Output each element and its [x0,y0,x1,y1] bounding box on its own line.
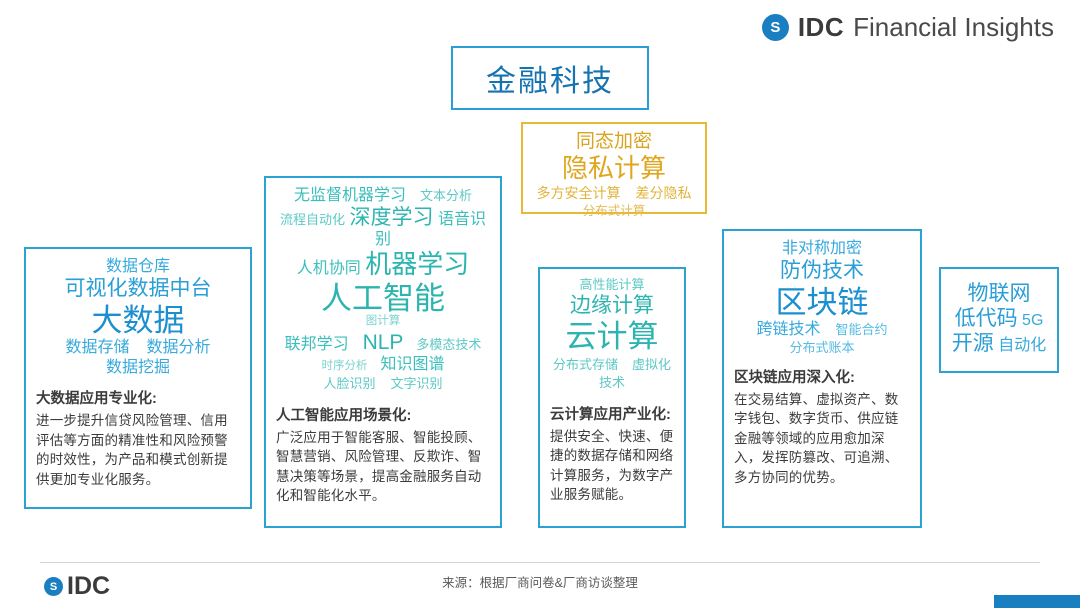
wordcloud-term: 数据分析 [146,339,210,356]
wordcloud-row: 数据存储 数据分析 [36,339,240,357]
card-cloud-heading: 云计算应用产业化: [550,403,674,424]
wordcloud-term: 人机协同 [297,260,361,277]
slide-canvas: S IDC Financial Insights 金融科技 数据仓库 可视化数据… [0,0,1080,608]
wordcloud-term: 边缘计算 [550,294,674,318]
card-bigdata: 数据仓库 可视化数据中台 大数据 数据存储 数据分析 数据挖掘 大数据应用专业化… [24,247,252,509]
wordcloud-row: 低代码 5G [952,307,1046,331]
wordcloud-row: 跨链技术 智能合约 [734,321,910,339]
wordcloud-term: 同态加密 [531,131,697,153]
wordcloud-term: 图计算 [366,315,401,327]
wordcloud-row: 流程自动化 深度学习 语音识别 [276,206,490,249]
brand-name: IDC [798,12,844,43]
footer-divider [40,562,1040,563]
wordcloud-term: 分布式存储 [553,357,618,372]
wordcloud-term: 低代码 [955,307,1018,330]
footer-accent-block [994,595,1080,608]
wordcloud-row: 无监督机器学习 文本分析 [276,187,490,205]
card-bigdata-heading: 大数据应用专业化: [36,387,240,408]
wordcloud-term: 智能合约 [835,322,887,337]
card-cloud-text: 提供安全、快速、便捷的数据存储和网络计算服务，为数字产业服务赋能。 [550,427,674,505]
card-blockchain-text: 在交易结算、虚拟资产、数字钱包、数字货币、供应链金融等领域的应用愈加深入，发挥防… [734,390,910,488]
card-blockchain: 非对称加密 防伪技术 区块链 跨链技术 智能合约 分布式账本 区块链应用深入化:… [722,229,922,528]
wordcloud-blockchain: 非对称加密 防伪技术 区块链 跨链技术 智能合约 分布式账本 [734,240,910,356]
wordcloud-term: 深度学习 [350,206,434,229]
wordcloud-row: 人机协同 机器学习 [276,250,490,280]
wordcloud-term: 数据存储 [66,339,130,356]
wordcloud-term: 人脸识别 [324,376,376,391]
page-title: 金融科技 [451,46,649,110]
wordcloud-row: 人脸识别 文字识别 [276,375,490,393]
wordcloud-term: 知识图谱 [380,356,444,373]
wordcloud-term: 物联网 [952,282,1046,306]
wordcloud-term: 隐私计算 [531,154,697,184]
wordcloud-ai: 无监督机器学习 文本分析 流程自动化 深度学习 语音识别 人机协同 机器学习 人… [276,187,490,394]
wordcloud-term: 高性能计算 [550,278,674,293]
card-iot: 物联网 低代码 5G 开源 自动化 [939,267,1059,373]
brand-subtitle: Financial Insights [853,12,1054,43]
wordcloud-term: 跨链技术 [757,321,821,338]
wordcloud-term: 多方安全计算 [537,185,621,201]
wordcloud-term: 时序分析 [322,360,368,372]
card-ai-heading: 人工智能应用场景化: [276,404,490,425]
wordcloud-term: NLP [363,331,404,354]
wordcloud-term: 非对称加密 [734,240,910,258]
wordcloud-term: 区块链 [734,285,910,321]
card-ai: 无监督机器学习 文本分析 流程自动化 深度学习 语音识别 人机协同 机器学习 人… [264,176,502,528]
wordcloud-row: 多方安全计算 差分隐私 [531,185,697,203]
wordcloud-row: 开源 自动化 [952,332,1046,356]
wordcloud-row: 图计算 [276,311,490,329]
wordcloud-cloud-computing: 高性能计算 边缘计算 云计算 分布式存储 虚拟化技术 [550,278,674,393]
idc-brand-header: S IDC Financial Insights [762,12,1054,43]
wordcloud-term: 联邦学习 [285,336,349,353]
wordcloud-term: 防伪技术 [734,259,910,283]
card-ai-text: 广泛应用于智能客服、智能投顾、智慧营销、风险管理、反欺诈、智慧决策等场景，提高金… [276,428,490,506]
source-note: 来源：根据厂商问卷&厂商访谈整理 [0,572,1080,591]
wordcloud-privacy: 同态加密 隐私计算 多方安全计算 差分隐私 分布式计算 [531,131,697,219]
wordcloud-term: 可视化数据中台 [36,277,240,301]
wordcloud-term: 机器学习 [365,249,469,279]
wordcloud-term: 无监督机器学习 [294,187,406,204]
card-blockchain-heading: 区块链应用深入化: [734,366,910,387]
wordcloud-term: 自动化 [998,337,1046,354]
wordcloud-term: 差分隐私 [635,185,691,201]
wordcloud-row: 分布式存储 虚拟化技术 [550,356,674,393]
wordcloud-term: 5G [1022,312,1043,329]
card-privacy-computing: 同态加密 隐私计算 多方安全计算 差分隐私 分布式计算 [521,122,707,214]
wordcloud-term: 云计算 [550,319,674,355]
wordcloud-row: 联邦学习 NLP 多模态技术 [276,331,490,355]
page-title-text: 金融科技 [486,56,614,100]
wordcloud-iot: 物联网 低代码 5G 开源 自动化 [952,281,1046,357]
wordcloud-term: 数据挖掘 [36,359,240,377]
wordcloud-term: 分布式账本 [734,341,910,356]
wordcloud-term: 流程自动化 [280,212,345,227]
wordcloud-term: 大数据 [36,303,240,339]
wordcloud-term: 多模态技术 [416,337,481,352]
wordcloud-term: 分布式计算 [531,204,697,218]
wordcloud-row: 时序分析 知识图谱 [276,356,490,374]
wordcloud-bigdata: 数据仓库 可视化数据中台 大数据 数据存储 数据分析 数据挖掘 [36,258,240,377]
card-bigdata-text: 进一步提升信贷风险管理、信用评估等方面的精准性和风险预警的时效性，为产品和模式创… [36,411,240,489]
wordcloud-term: 文字识别 [390,376,442,391]
wordcloud-term: 数据仓库 [36,258,240,276]
card-cloud-computing: 高性能计算 边缘计算 云计算 分布式存储 虚拟化技术 云计算应用产业化: 提供安… [538,267,686,528]
wordcloud-term: 文本分析 [420,188,472,203]
wordcloud-term: 开源 [952,332,994,355]
idc-circle-logo-icon: S [762,14,789,41]
